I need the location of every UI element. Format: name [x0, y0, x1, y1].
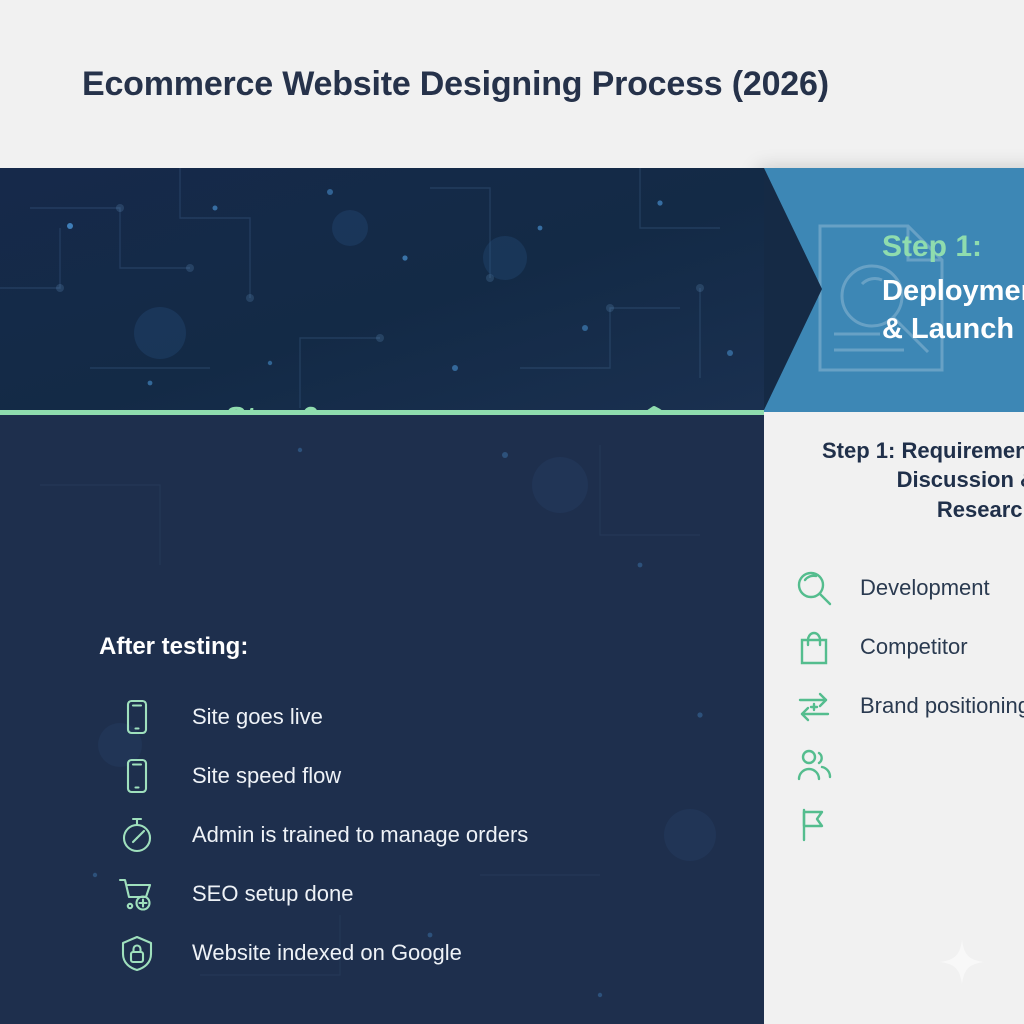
shopping-bag-icon — [794, 627, 834, 667]
list-item[interactable]: SEO setup done — [118, 875, 353, 913]
current-step-banner: Step 6: Launch & Training — [0, 168, 764, 410]
banner-arrow-tip — [764, 168, 822, 410]
list-item-label: Development — [860, 575, 990, 601]
sparkle-icon — [938, 938, 986, 986]
next-step-body: Step 1: RequirementDiscussion &Research … — [764, 412, 1024, 1024]
list-item[interactable]: Admin is trained to manage orders — [118, 816, 528, 854]
exchange-arrows-icon — [794, 686, 834, 726]
section-heading: After testing: — [99, 633, 248, 661]
magnifier-icon — [794, 568, 834, 608]
stopwatch-icon — [118, 816, 156, 854]
list-item-label: Admin is trained to manage orders — [192, 822, 528, 848]
current-step-body: After testing: Site goes live Site speed… — [0, 415, 764, 1024]
list-item-label: Competitor — [860, 634, 968, 660]
list-item[interactable]: Brand positioning — [794, 686, 1024, 726]
mobile-phone-icon — [118, 757, 156, 795]
mobile-phone-icon — [118, 698, 156, 736]
flag-icon — [794, 804, 834, 844]
next-step-label: Step 1: — [882, 230, 982, 264]
next-step-heading: Step 1: RequirementDiscussion &Research — [822, 436, 1024, 524]
list-item[interactable] — [794, 745, 860, 785]
list-item-label: Site speed flow — [192, 763, 341, 789]
list-item-label: Site goes live — [192, 704, 323, 730]
list-item[interactable]: Development — [794, 568, 990, 608]
list-item-label: Brand positioning — [860, 693, 1024, 719]
page-title: Ecommerce Website Designing Process (202… — [82, 65, 829, 104]
next-step-title: Deployment& Launch — [882, 272, 1024, 349]
list-item[interactable]: Site speed flow — [118, 757, 341, 795]
shield-lock-icon — [118, 934, 156, 972]
cart-plus-icon — [118, 875, 156, 913]
list-item-label: SEO setup done — [192, 881, 353, 907]
list-item[interactable]: Competitor — [794, 627, 968, 667]
list-item-label: Website indexed on Google — [192, 940, 462, 966]
people-group-icon — [794, 745, 834, 785]
banner-circuit-background — [0, 168, 764, 410]
title-bar: Ecommerce Website Designing Process (202… — [0, 0, 1024, 168]
list-item[interactable]: Website indexed on Google — [118, 934, 462, 972]
list-item[interactable] — [794, 804, 860, 844]
current-step-card[interactable]: Step 6: Launch & Training After — [0, 168, 764, 1024]
list-item[interactable]: Site goes live — [118, 698, 323, 736]
